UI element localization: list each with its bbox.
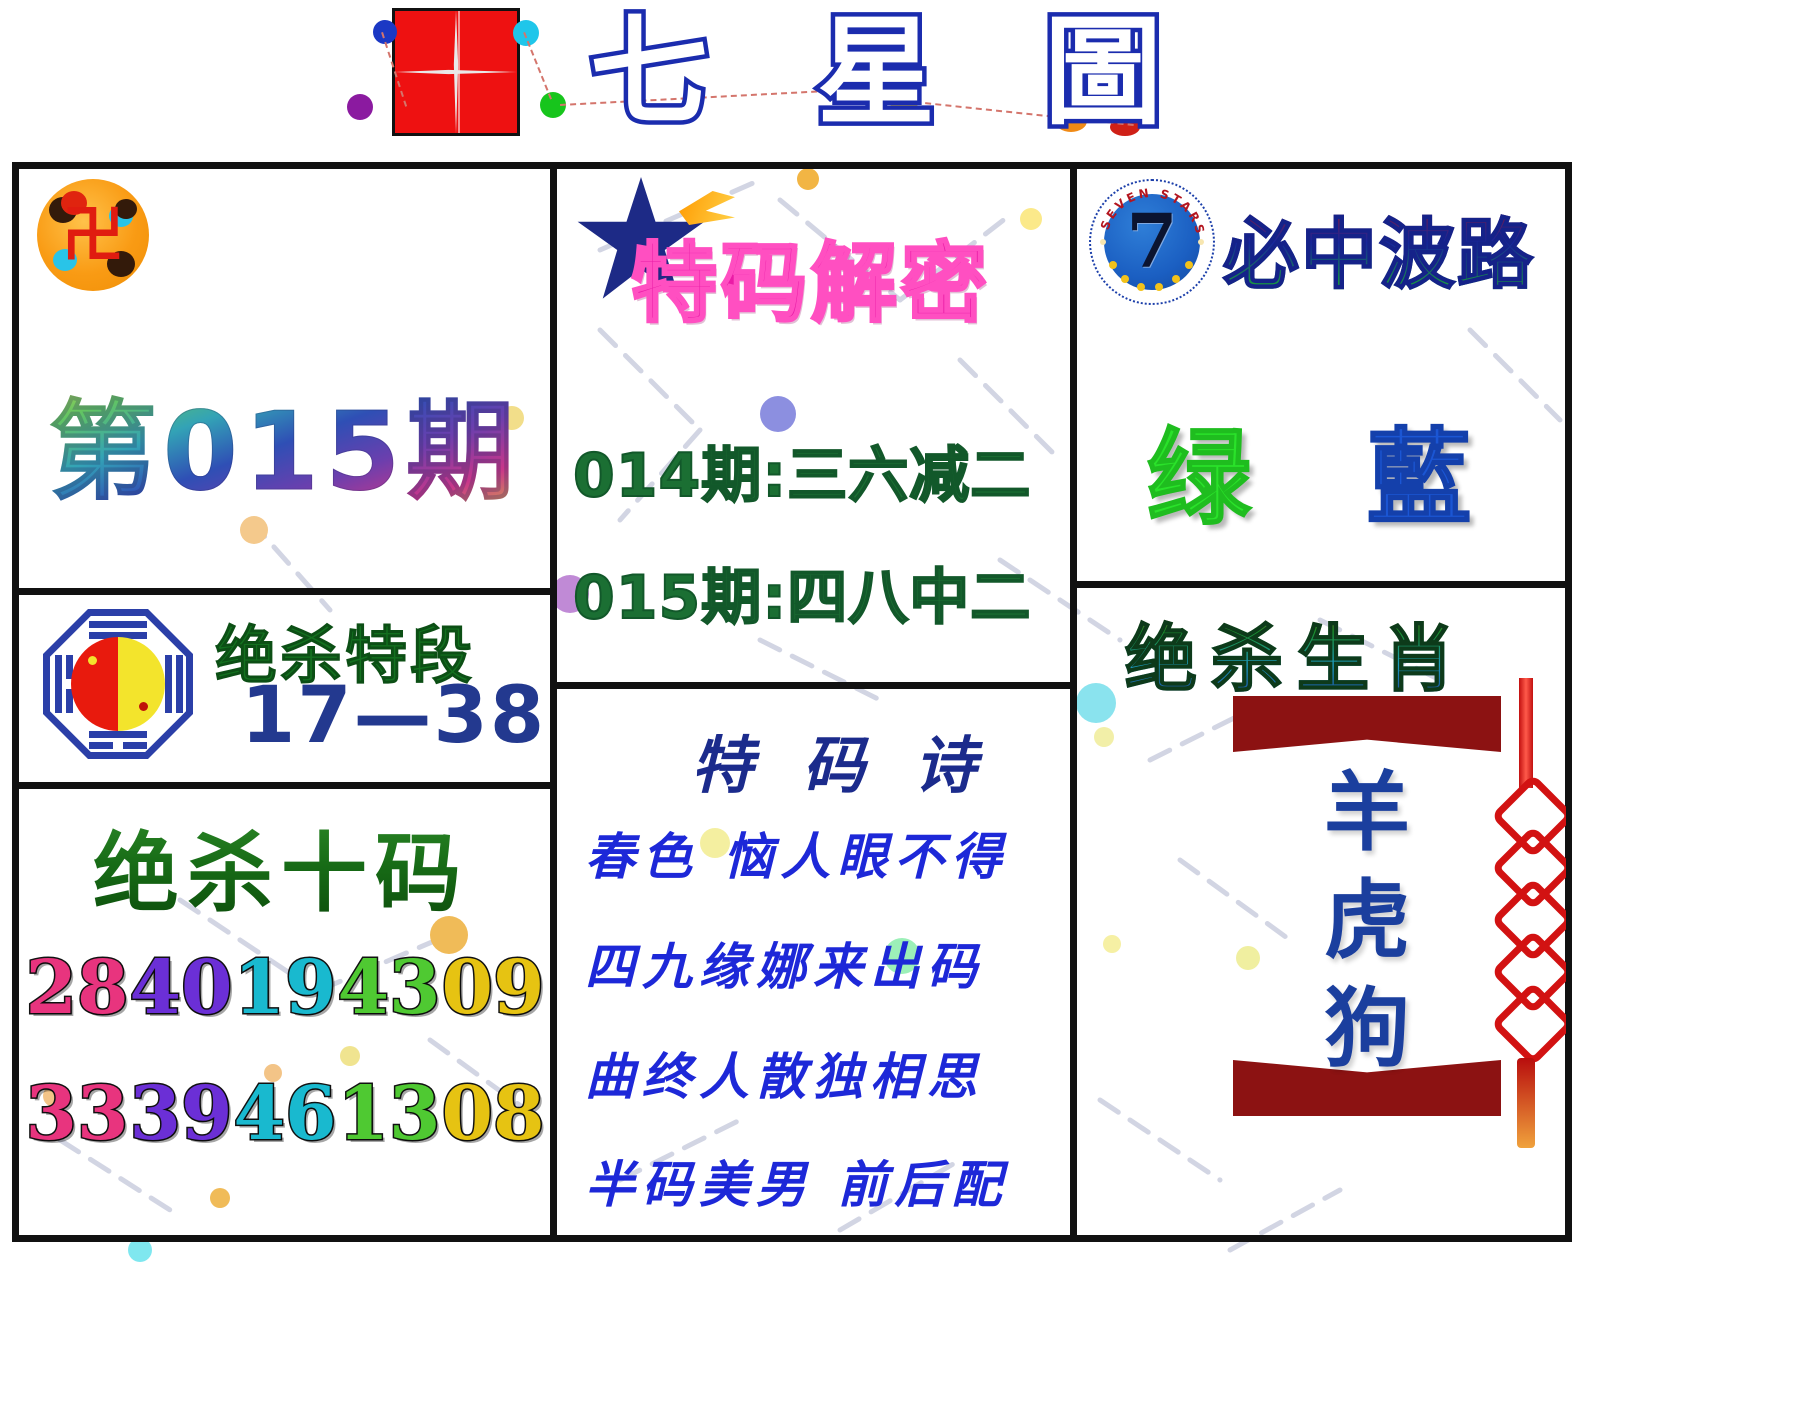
seven-stars-logo-icon: SEVEN STARS 7 (1089, 179, 1215, 305)
period-label: 第015期 (49, 365, 520, 521)
content-grid: 卍 第015期 特码解密 014期:三六减二 015期:四八中二 SEVEN S… (12, 162, 1572, 1242)
panel-shengxiao: 绝杀生肖 羊 虎 狗 (1077, 588, 1566, 1242)
seven-number: 7 (1091, 181, 1213, 303)
shima-number: 13 (338, 1077, 441, 1151)
tema-shi-title: 特 码 诗 (691, 715, 990, 805)
shima-number-row: 3339461308 (25, 1077, 545, 1151)
decor-line (523, 32, 552, 100)
tema-shi-line: 四九缘娜来出码 (585, 927, 984, 999)
panel-period: 卍 第015期 (19, 169, 557, 595)
ji-orb-icon: 卍 (37, 179, 149, 291)
panel-tema-shi: 特 码 诗 春色 恼人眼不得 四九缘娜来出码 曲终人散独相思 半码美男 前后配 (557, 689, 1077, 1242)
swastika-glyph: 卍 (62, 204, 124, 266)
shima-number-row: 2840194309 (25, 951, 545, 1025)
red-scroll-icon: 羊 虎 狗 (1233, 696, 1501, 1116)
bagua-taiji-icon (43, 609, 193, 759)
bolu-color-blue: 藍 (1367, 393, 1471, 544)
page-header: 七 星 圖 (0, 0, 1800, 160)
shima-number: 19 (234, 951, 337, 1025)
shima-number: 43 (338, 951, 441, 1025)
panel-tema-jiemi: 特码解密 014期:三六减二 015期:四八中二 (557, 169, 1077, 689)
bolu-color-green: 绿 (1147, 393, 1251, 544)
shima-title: 绝杀十码 (93, 803, 469, 928)
shima-number: 39 (130, 1077, 233, 1151)
panel-teduan: 绝杀特段 17—38 (19, 595, 557, 789)
shengxiao-animal: 羊 (1233, 770, 1501, 856)
shima-number: 46 (234, 1077, 337, 1151)
bolu-title: 必中波路 (1223, 193, 1535, 303)
tema-jiemi-title: 特码解密 (631, 213, 991, 338)
tema-shi-line: 曲终人散独相思 (585, 1037, 984, 1109)
panel-bolu: SEVEN STARS 7 必中波路 绿 藍 (1077, 169, 1566, 588)
panel-shima: 绝杀十码 2840194309 3339461308 (19, 789, 557, 1242)
shengxiao-title: 绝杀生肖 (1125, 600, 1469, 705)
chinese-knot-icon (1497, 678, 1555, 1148)
page-title: 七 星 圖 (590, 2, 1196, 142)
shima-number: 33 (26, 1077, 129, 1151)
shima-number: 09 (442, 951, 545, 1025)
teduan-range: 17—38 (241, 671, 546, 761)
tema-jiemi-line: 014期:三六减二 (573, 427, 1031, 514)
shima-number: 08 (442, 1077, 545, 1151)
shima-number: 28 (26, 951, 129, 1025)
tema-jiemi-line: 015期:四八中二 (573, 549, 1031, 636)
shengxiao-animal: 狗 (1233, 986, 1501, 1072)
shima-number: 40 (130, 951, 233, 1025)
shengxiao-animal: 虎 (1233, 878, 1501, 964)
red-star-badge-icon (392, 8, 520, 136)
tema-shi-line: 春色 恼人眼不得 (585, 817, 1008, 889)
tema-shi-line: 半码美男 前后配 (585, 1145, 1008, 1217)
decor-dot-purple (347, 94, 373, 120)
